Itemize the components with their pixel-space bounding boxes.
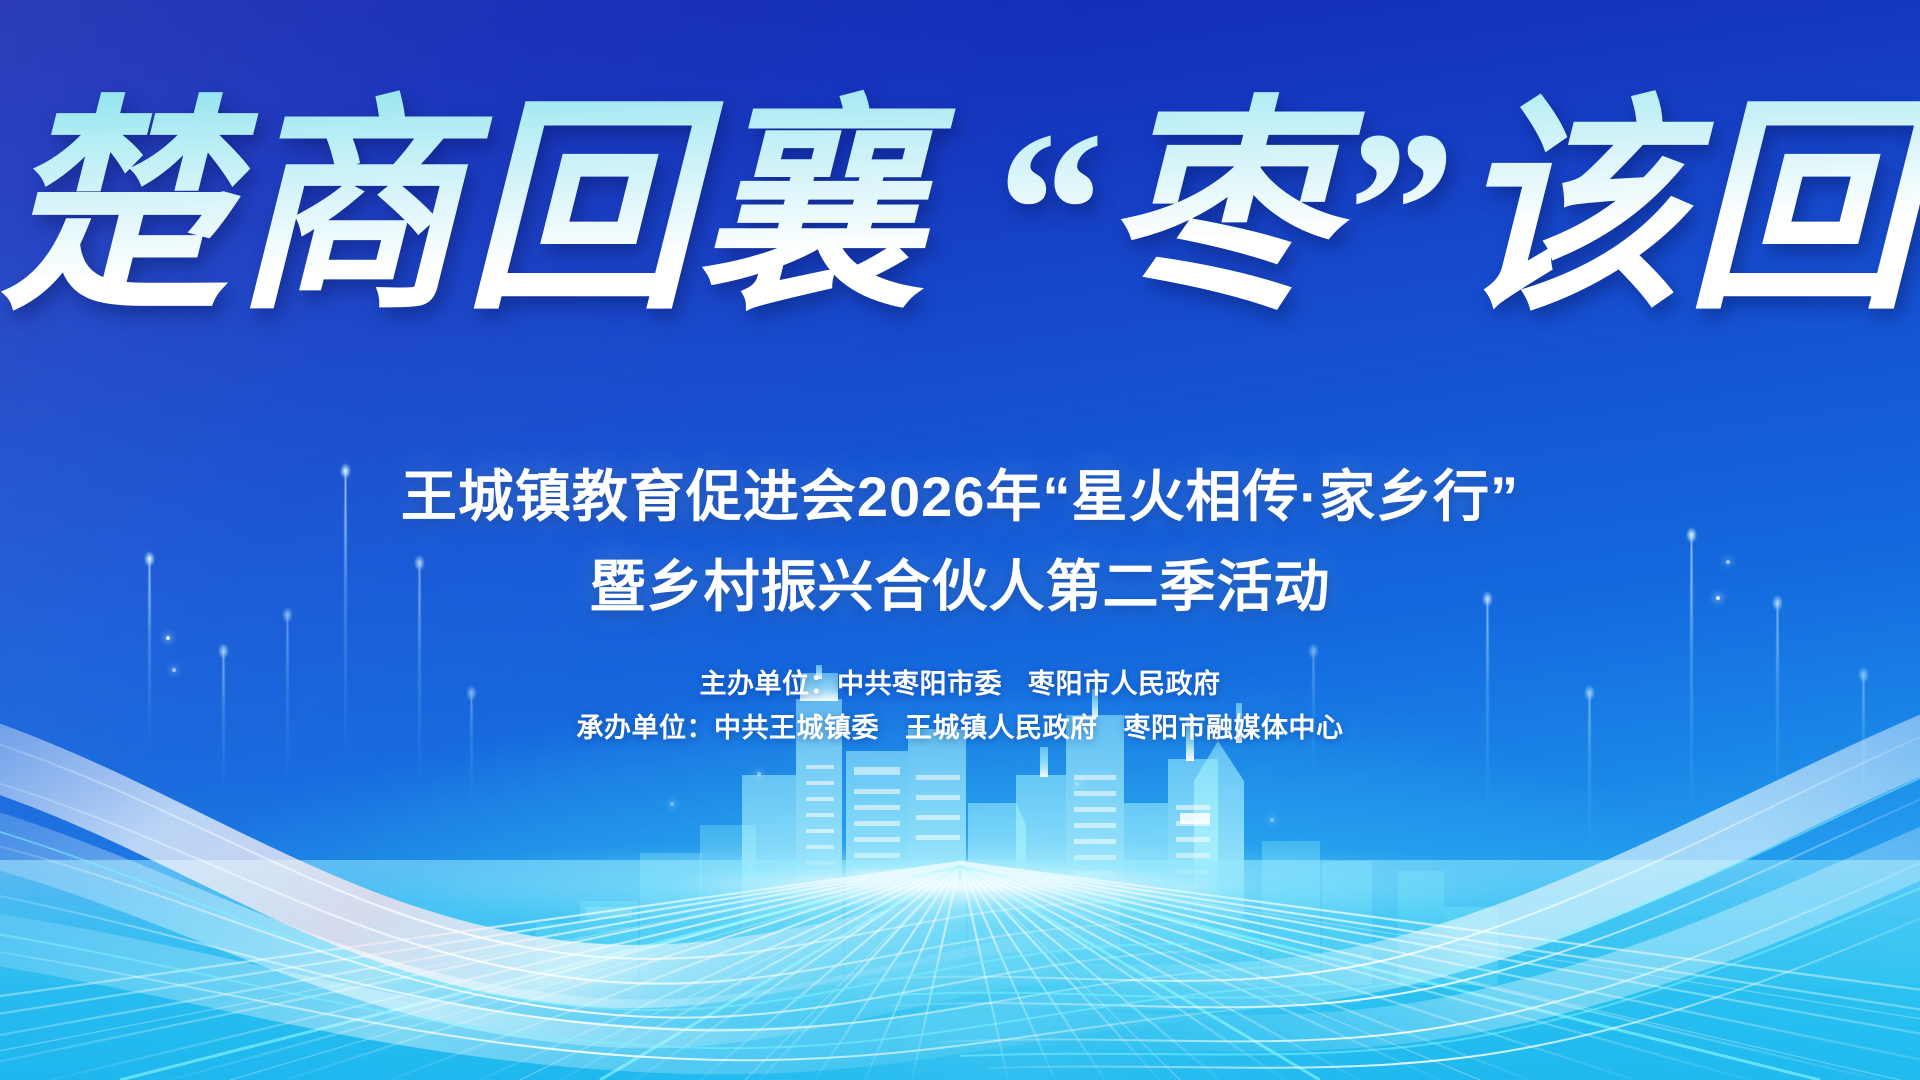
calligraphy-title: 楚商回襄“枣”该回家 <box>0 88 1920 334</box>
organizer-label: 承办单位： <box>577 713 715 743</box>
co-organizers: 承办单位：中共王城镇委王城镇人民政府枣阳市融媒体中心 <box>0 706 1920 745</box>
poster-content: 楚商回襄“枣”该回家 王城镇教育促进会2026年“星火相传·家乡行” 暨乡村振兴… <box>0 0 1920 1080</box>
calligraphy-title-part2: “枣”该回家 <box>986 85 1920 337</box>
organizer-unit-1: 中共王城镇委 <box>714 713 879 743</box>
calligraphy-title-part1: 楚商回襄 <box>0 85 928 337</box>
host-label: 主办单位： <box>700 669 838 699</box>
host-unit-2: 枣阳市人民政府 <box>1028 669 1221 699</box>
host-organizers: 主办单位：中共枣阳市委枣阳市人民政府 <box>0 662 1920 701</box>
event-poster: 楚商回襄“枣”该回家 王城镇教育促进会2026年“星火相传·家乡行” 暨乡村振兴… <box>0 0 1920 1080</box>
headline-line-2: 暨乡村振兴合伙人第二季活动 <box>0 542 1920 623</box>
headline-line-1: 王城镇教育促进会2026年“星火相传·家乡行” <box>0 452 1920 533</box>
organizer-unit-3: 枣阳市融媒体中心 <box>1124 713 1344 743</box>
host-unit-1: 中共枣阳市委 <box>837 669 1002 699</box>
organizer-unit-2: 王城镇人民政府 <box>905 713 1098 743</box>
